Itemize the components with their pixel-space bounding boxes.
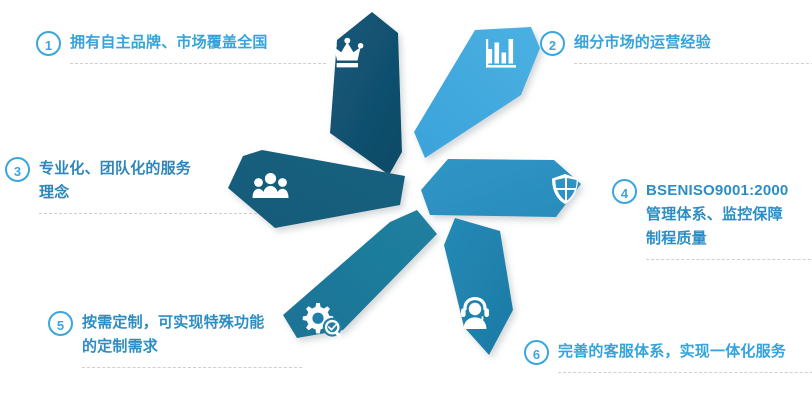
list-item-6[interactable]: 6 完善的客服体系，实现一体化服务: [524, 340, 786, 373]
item-3-divider: [39, 213, 257, 214]
blade-4: [421, 159, 581, 217]
list-item-1[interactable]: 1 拥有自主品牌、市场覆盖全国: [36, 31, 268, 64]
list-item-5[interactable]: 5 按需定制，可实现特殊功能 的定制需求: [48, 311, 264, 368]
item-1-line-1: 拥有自主品牌、市场覆盖全国: [70, 31, 268, 55]
number-badge-6: 6: [524, 340, 549, 365]
item-1-divider: [70, 63, 326, 64]
blade-3: [228, 150, 405, 228]
infographic-canvas: 1 拥有自主品牌、市场覆盖全国 2 细分市场的运营经验 3 专业化、团队化的服务…: [0, 0, 812, 406]
item-6-text: 完善的客服体系，实现一体化服务: [558, 340, 786, 373]
number-badge-3: 3: [5, 157, 30, 182]
item-6-divider: [558, 372, 812, 373]
blade-6: [444, 218, 513, 355]
team-people-icon: [253, 173, 289, 198]
item-5-line-2: 的定制需求: [82, 335, 264, 359]
headset-support-icon: [461, 297, 489, 329]
gear-search-icon: [303, 303, 342, 338]
number-badge-4: 4: [612, 179, 637, 204]
item-3-line-2: 理念: [39, 181, 191, 205]
item-4-line-3: 制程质量: [646, 227, 788, 251]
item-4-line-1: BSENISO9001:2000: [646, 179, 788, 203]
item-4-line-2: 管理体系、监控保障: [646, 203, 788, 227]
item-2-line-1: 细分市场的运营经验: [574, 31, 711, 55]
shield-icon: [552, 174, 578, 204]
crown-icon: [331, 38, 363, 68]
list-item-3[interactable]: 3 专业化、团队化的服务 理念: [5, 157, 191, 214]
number-badge-1: 1: [36, 31, 61, 56]
item-3-text: 专业化、团队化的服务 理念: [39, 157, 191, 214]
blade-5: [283, 210, 437, 338]
item-2-divider: [574, 63, 812, 64]
list-item-2[interactable]: 2 细分市场的运营经验: [540, 31, 711, 64]
number-badge-5: 5: [48, 311, 73, 336]
item-2-text: 细分市场的运营经验: [574, 31, 711, 64]
list-item-4[interactable]: 4 BSENISO9001:2000 管理体系、监控保障 制程质量: [612, 179, 788, 260]
item-3-line-1: 专业化、团队化的服务: [39, 157, 191, 181]
item-5-line-1: 按需定制，可实现特殊功能: [82, 311, 264, 335]
item-4-divider: [646, 259, 812, 260]
number-badge-2: 2: [540, 31, 565, 56]
item-5-divider: [82, 367, 302, 368]
item-5-text: 按需定制，可实现特殊功能 的定制需求: [82, 311, 264, 368]
blade-2: [414, 27, 540, 158]
item-6-line-1: 完善的客服体系，实现一体化服务: [558, 340, 786, 364]
bar-chart-icon: [486, 39, 516, 68]
item-4-text: BSENISO9001:2000 管理体系、监控保障 制程质量: [646, 179, 788, 260]
blade-1: [330, 12, 402, 175]
item-1-text: 拥有自主品牌、市场覆盖全国: [70, 31, 268, 64]
